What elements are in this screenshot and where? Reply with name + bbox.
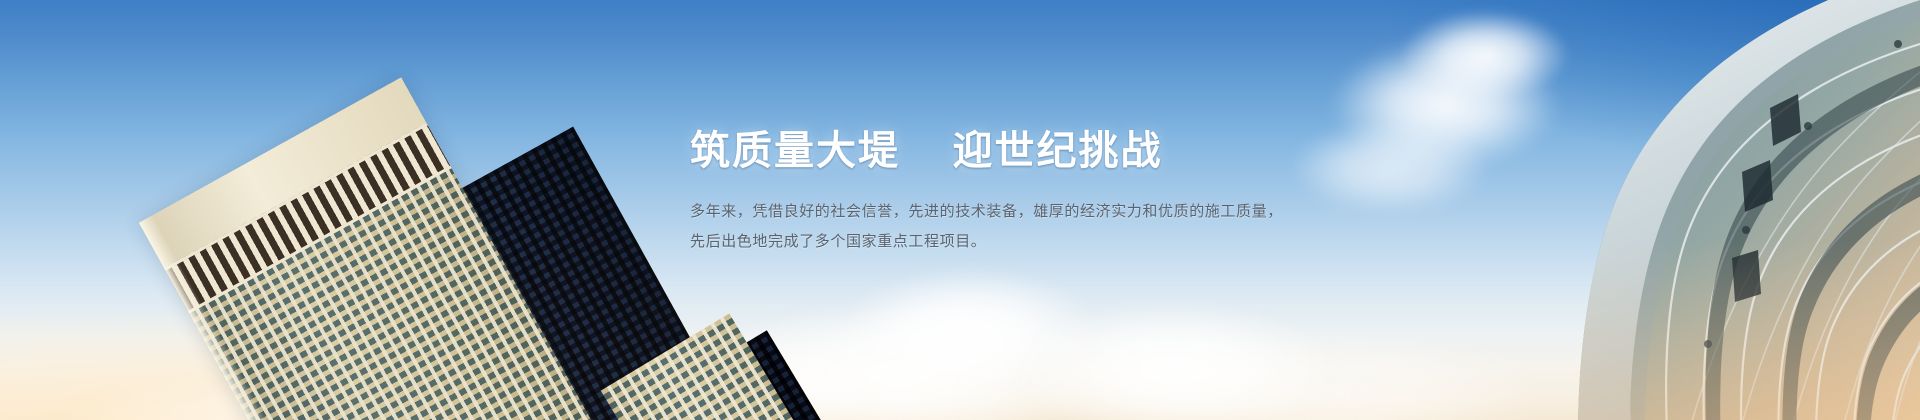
banner-subtitle-line-1: 多年来，凭借良好的社会信誉，先进的技术装备，雄厚的经济实力和优质的施工质量， xyxy=(690,197,1330,227)
banner-headline: 筑质量大堤 迎世纪挑战 xyxy=(690,128,1330,175)
banner-subtitle-line-2: 先后出色地完成了多个国家重点工程项目。 xyxy=(690,227,1330,257)
banner-copy: 筑质量大堤 迎世纪挑战 多年来，凭借良好的社会信誉，先进的技术装备，雄厚的经济实… xyxy=(690,128,1330,257)
hero-banner: 筑质量大堤 迎世纪挑战 多年来，凭借良好的社会信誉，先进的技术装备，雄厚的经济实… xyxy=(0,0,1920,420)
banner-subtitle: 多年来，凭借良好的社会信誉，先进的技术装备，雄厚的经济实力和优质的施工质量， 先… xyxy=(690,197,1330,257)
